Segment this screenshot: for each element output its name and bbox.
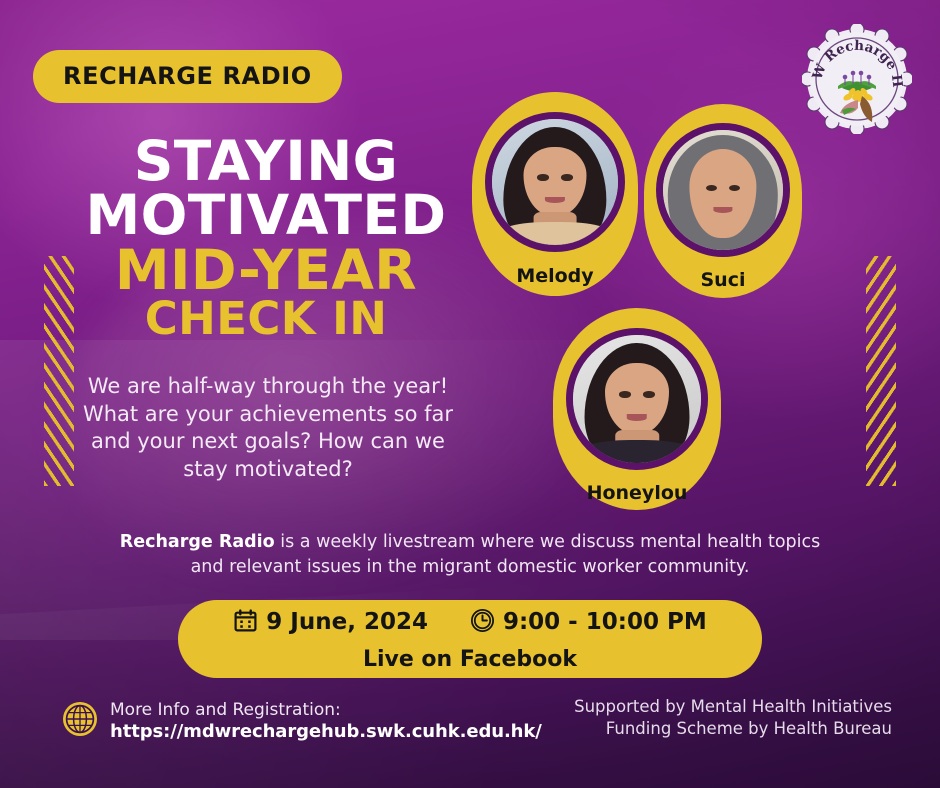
event-date-text: 9 June, 2024	[266, 611, 428, 634]
speaker-name: Honeylou	[587, 484, 688, 503]
headline-line-4: CHECK IN	[42, 297, 490, 342]
event-time: 9:00 - 10:00 PM	[470, 608, 707, 638]
support-credit-line-1: Supported by Mental Health Initiatives	[574, 696, 892, 718]
speaker-name: Suci	[701, 271, 746, 290]
event-date: 9 June, 2024	[233, 608, 428, 638]
program-name: Recharge Radio	[120, 532, 275, 552]
headline-line-1: STAYING	[42, 134, 490, 188]
globe-icon	[62, 701, 98, 741]
clock-icon	[470, 608, 495, 638]
speaker-photo-honeylou	[566, 328, 708, 470]
headline-line-2: MOTIVATED	[42, 188, 490, 242]
registration-url[interactable]: https://mdwrechargehub.swk.cuhk.edu.hk/	[110, 721, 542, 743]
program-description-rest: is a weekly livestream where we discuss …	[191, 532, 821, 577]
event-details-banner: 9 June, 2024 9:00 - 10:00 PM Live on Fac…	[178, 600, 762, 678]
speaker-photo-melody	[485, 112, 625, 252]
speaker-photo-suci	[656, 123, 790, 257]
speaker-card-melody: Melody	[472, 92, 638, 296]
speaker-card-honeylou: Honeylou	[553, 308, 721, 510]
registration-info: More Info and Registration: https://mdwr…	[62, 700, 542, 743]
speaker-name: Melody	[516, 267, 593, 286]
support-credit: Supported by Mental Health Initiatives F…	[574, 696, 892, 740]
speaker-card-suci: Suci	[644, 104, 802, 298]
poster-canvas: MDW Recharge Hub	[0, 0, 940, 788]
registration-label: More Info and Registration:	[110, 700, 542, 721]
recharge-radio-tag: RECHARGE RADIO	[33, 50, 342, 103]
event-platform: Live on Facebook	[363, 649, 577, 671]
mdw-recharge-hub-logo: MDW Recharge Hub	[802, 24, 912, 134]
support-credit-line-2: Funding Scheme by Health Bureau	[574, 718, 892, 740]
headline-line-3: MID-YEAR	[42, 243, 490, 297]
page-title: STAYING MOTIVATED MID-YEAR CHECK IN	[42, 134, 490, 342]
lead-paragraph: We are half-way through the year! What a…	[78, 373, 458, 484]
event-time-text: 9:00 - 10:00 PM	[503, 611, 707, 634]
calendar-icon	[233, 608, 258, 638]
hatch-ornament-right	[866, 256, 896, 486]
program-description: Recharge Radio is a weekly livestream wh…	[105, 530, 835, 581]
